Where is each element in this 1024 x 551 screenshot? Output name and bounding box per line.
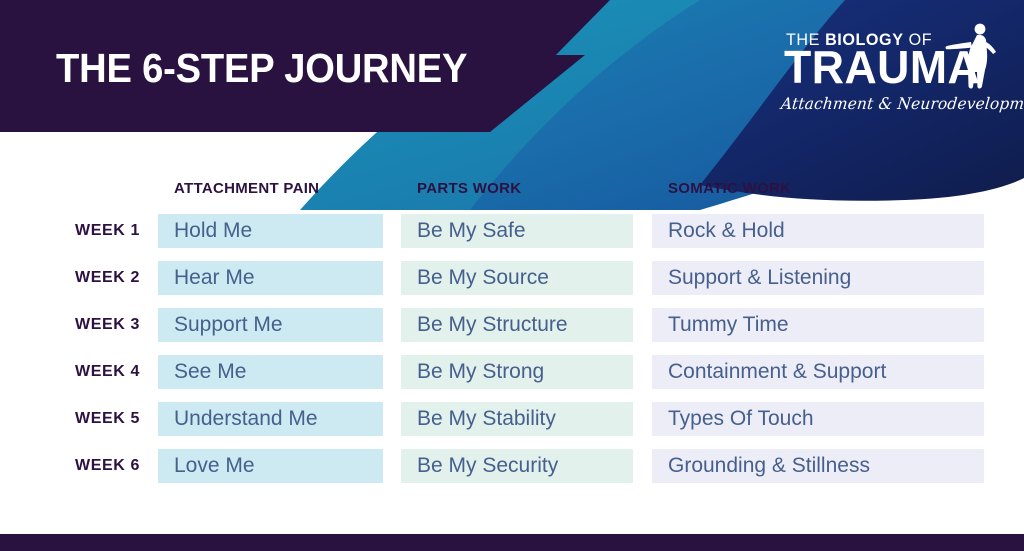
cell-row1-col1: Hold Me [158, 214, 383, 248]
week-label-5: WEEK 5 [0, 402, 140, 436]
cell-row5-col2: Be My Stability [401, 402, 633, 436]
cell-row5-col3: Types Of Touch [652, 402, 984, 436]
cell-row4-col1: See Me [158, 355, 383, 389]
week-label-6: WEEK 6 [0, 449, 140, 483]
cell-row2-col2: Be My Source [401, 261, 633, 295]
footer-bar [0, 534, 1024, 551]
cell-row1-col2: Be My Safe [401, 214, 633, 248]
column-header-attachment-pain: ATTACHMENT PAIN [174, 180, 319, 197]
week-label-3: WEEK 3 [0, 308, 140, 342]
journey-table: ATTACHMENT PAIN PARTS WORK SOMATIC WORK … [0, 0, 1024, 551]
column-header-parts-work: PARTS WORK [417, 180, 521, 197]
cell-row6-col2: Be My Security [401, 449, 633, 483]
cell-row2-col3: Support & Listening [652, 261, 984, 295]
cell-row1-col3: Rock & Hold [652, 214, 984, 248]
cell-row3-col1: Support Me [158, 308, 383, 342]
cell-row2-col1: Hear Me [158, 261, 383, 295]
cell-row6-col1: Love Me [158, 449, 383, 483]
cell-row5-col1: Understand Me [158, 402, 383, 436]
infographic-canvas: THE 6-STEP JOURNEY THE BIOLOGY OF TRAUMA… [0, 0, 1024, 551]
column-header-somatic-work: SOMATIC WORK [668, 180, 791, 197]
week-label-1: WEEK 1 [0, 214, 140, 248]
cell-row3-col3: Tummy Time [652, 308, 984, 342]
cell-row4-col2: Be My Strong [401, 355, 633, 389]
week-label-4: WEEK 4 [0, 355, 140, 389]
cell-row6-col3: Grounding & Stillness [652, 449, 984, 483]
cell-row4-col3: Containment & Support [652, 355, 984, 389]
week-label-2: WEEK 2 [0, 261, 140, 295]
cell-row3-col2: Be My Structure [401, 308, 633, 342]
